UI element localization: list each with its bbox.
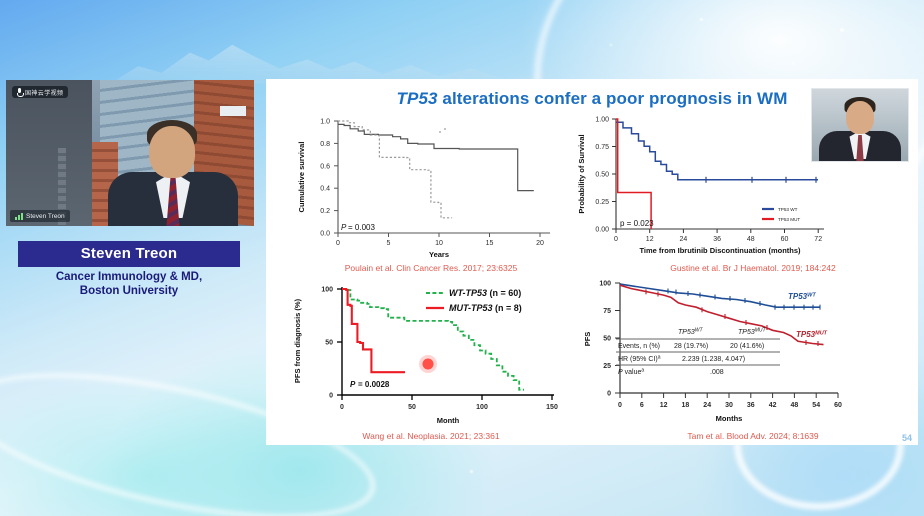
- participant-name-chip: Steven Treon: [10, 210, 70, 222]
- table-cell-pvalue: .008: [710, 369, 724, 376]
- mic-chip-label: 国神云学视频: [25, 88, 63, 97]
- svg-text:6: 6: [640, 402, 644, 409]
- svg-text:75: 75: [603, 308, 611, 315]
- svg-text:Months: Months: [716, 414, 743, 423]
- series-mut-tp53: [342, 289, 405, 372]
- censor-mark: [439, 131, 441, 133]
- p-value-annotation: P: [350, 380, 356, 389]
- svg-text:50: 50: [325, 340, 333, 347]
- speaker-nameplate: Steven Treon Cancer Immunology & MD, Bos…: [18, 241, 240, 298]
- svg-text:0: 0: [336, 240, 340, 247]
- svg-text:0.2: 0.2: [320, 208, 330, 215]
- svg-text:150: 150: [546, 404, 558, 411]
- svg-text:100: 100: [599, 281, 611, 288]
- legend-label-wt: TP53 WT: [778, 207, 798, 212]
- curve-label-wt: TP53WT: [788, 292, 816, 301]
- svg-text:0: 0: [614, 236, 618, 243]
- affiliation-line-2: Boston University: [18, 285, 240, 299]
- slide-number: 54: [902, 433, 912, 443]
- chart-poulain-cumulative-survival: 0.0 0.2 0.4 0.6 0.8 1.0 0 5 10 15 20 Yea…: [282, 111, 562, 263]
- svg-text:0.00: 0.00: [595, 227, 609, 234]
- svg-text:0: 0: [340, 404, 344, 411]
- citation-bottom-left: Wang et al. Neoplasia. 2021; 23:361: [266, 431, 596, 441]
- svg-text:12: 12: [646, 236, 654, 243]
- svg-text:15: 15: [486, 240, 494, 247]
- series-solid: [338, 124, 534, 190]
- svg-text:0: 0: [329, 393, 333, 400]
- table-row-label: Events, n (%): [618, 343, 660, 350]
- svg-text:48: 48: [747, 236, 755, 243]
- svg-text:0.0: 0.0: [320, 231, 330, 238]
- legend-label-mut: MUT-TP53 (n = 8): [449, 303, 522, 313]
- p-value-text: = 0.0028: [358, 380, 390, 389]
- series-tp53-wt: [616, 122, 818, 180]
- svg-text:PFS from diagnosis (%): PFS from diagnosis (%): [293, 298, 302, 383]
- svg-text:Month: Month: [437, 416, 460, 425]
- svg-text:0.50: 0.50: [595, 172, 609, 179]
- legend-label-wt: WT-TP53 (n = 60): [449, 288, 521, 298]
- chart-poulain-axes: 0.0 0.2 0.4 0.6 0.8 1.0 0 5 10 15 20 Yea…: [297, 119, 550, 260]
- background-speck: [470, 470, 473, 473]
- speaker-affiliation: Cancer Immunology & MD, Boston Universit…: [18, 271, 240, 298]
- svg-text:Cumulative survival: Cumulative survival: [297, 142, 306, 213]
- svg-text:0.8: 0.8: [320, 141, 330, 148]
- svg-text:54: 54: [812, 402, 820, 409]
- svg-text:50: 50: [408, 404, 416, 411]
- table-header-mut: TP53MUT: [738, 328, 767, 337]
- svg-text:0: 0: [607, 391, 611, 398]
- background-mountain-graphic: [110, 28, 580, 84]
- table-cell-hr: 2.239 (1.238, 4.047): [682, 356, 745, 363]
- svg-text:100: 100: [321, 287, 333, 294]
- p-value-annotation: p = 0.023: [620, 219, 654, 228]
- svg-text:72: 72: [814, 236, 822, 243]
- svg-text:0.4: 0.4: [320, 186, 330, 193]
- microphone-icon: [17, 88, 22, 96]
- svg-text:25: 25: [603, 363, 611, 370]
- video-feed: [92, 80, 254, 226]
- svg-text:36: 36: [747, 402, 755, 409]
- citation-top-right: Gustine et al. Br J Haematol. 2019; 184:…: [588, 263, 918, 273]
- building-logo: [220, 106, 246, 116]
- slide-title-rest: alterations confer a poor prognosis in W…: [438, 89, 788, 108]
- chart-wang-legend: WT-TP53 (n = 60) MUT-TP53 (n = 8): [426, 288, 522, 313]
- svg-text:Time from Ibrutinib Discontinu: Time from Ibrutinib Discontinuation (mon…: [639, 246, 801, 255]
- chart-gustine-probability-survival: 0.00 0.25 0.50 0.75 1.00 0 12 24 36 48 6…: [566, 111, 836, 266]
- participant-video-tile[interactable]: 国神云学视频 Steven Treon: [6, 80, 254, 226]
- mic-status-chip[interactable]: 国神云学视频: [12, 86, 68, 98]
- svg-text:36: 36: [713, 236, 721, 243]
- table-cell-events-wt: 28 (19.7%): [674, 343, 708, 350]
- chart-tam-svg: 0 25 50 75 100 0 6 12 18 24 30 36 42 48 …: [570, 277, 852, 429]
- svg-text:0.6: 0.6: [320, 163, 330, 170]
- svg-text:Years: Years: [429, 250, 449, 259]
- svg-text:12: 12: [660, 402, 668, 409]
- participant-name-label: Steven Treon: [26, 213, 65, 220]
- chart-tam-results-table: TP53WT TP53MUT Events, n (%) 28 (19.7%) …: [616, 328, 780, 377]
- svg-text:100: 100: [476, 404, 488, 411]
- censor-mark: [444, 128, 446, 130]
- background-speck: [610, 44, 612, 46]
- p-value-text: = 0.003: [348, 223, 375, 232]
- webinar-screen: 国神云学视频 Steven Treon Steven Treon Cancer …: [0, 0, 924, 516]
- background-speck: [792, 62, 795, 65]
- svg-text:48: 48: [791, 402, 799, 409]
- slide-title-italic: TP53: [397, 89, 438, 108]
- cursor-highlight-halo: [419, 355, 437, 373]
- svg-text:0.25: 0.25: [595, 199, 609, 206]
- citation-bottom-right: Tam et al. Blood Adv. 2024; 8:1639: [588, 431, 918, 441]
- table-cell-events-mut: 20 (41.6%): [730, 343, 764, 350]
- series-tp53-mut: [616, 119, 651, 229]
- chart-tam-pfs: 0 25 50 75 100 0 6 12 18 24 30 36 42 48 …: [570, 277, 852, 429]
- chart-poulain-svg: 0.0 0.2 0.4 0.6 0.8 1.0 0 5 10 15 20 Yea…: [282, 111, 562, 263]
- svg-text:0: 0: [618, 402, 622, 409]
- table-row-label: HR (95% CI)a: [618, 355, 661, 364]
- svg-text:20: 20: [536, 240, 544, 247]
- speaker-face: [149, 126, 195, 178]
- svg-text:1.0: 1.0: [320, 119, 330, 126]
- chart-gustine-axes: 0.00 0.25 0.50 0.75 1.00 0 12 24 36 48 6…: [577, 117, 824, 256]
- p-value-annotation: P: [341, 223, 347, 232]
- svg-text:5: 5: [387, 240, 391, 247]
- table-header-wt: TP53WT: [678, 328, 703, 337]
- svg-text:42: 42: [769, 402, 777, 409]
- series-dotted: [338, 121, 452, 218]
- svg-text:24: 24: [703, 402, 711, 409]
- svg-text:50: 50: [603, 336, 611, 343]
- svg-text:24: 24: [680, 236, 688, 243]
- video-background-left: [6, 80, 92, 226]
- headshot-face: [846, 101, 874, 134]
- signal-bars-icon: [15, 213, 23, 220]
- table-row-label: P valuea: [618, 368, 644, 377]
- svg-text:Probability of Survival: Probability of Survival: [577, 134, 586, 213]
- background-speck: [700, 18, 703, 21]
- svg-text:60: 60: [781, 236, 789, 243]
- affiliation-line-1: Cancer Immunology & MD,: [18, 271, 240, 285]
- chart-gustine-svg: 0.00 0.25 0.50 0.75 1.00 0 12 24 36 48 6…: [566, 111, 836, 266]
- background-speck: [840, 28, 844, 32]
- svg-text:60: 60: [834, 402, 842, 409]
- speaker-name: Steven Treon: [18, 241, 240, 267]
- legend-label-mut: TP53 MUT: [778, 217, 800, 222]
- svg-text:0.75: 0.75: [595, 144, 609, 151]
- svg-text:18: 18: [682, 402, 690, 409]
- svg-text:PFS: PFS: [583, 332, 592, 347]
- svg-text:30: 30: [725, 402, 733, 409]
- chart-gustine-legend: TP53 WT TP53 MUT: [762, 207, 800, 222]
- svg-text:1.00: 1.00: [595, 117, 609, 124]
- chart-wang-svg: 0 50 100 0 50 100 150 Month PFS from dia…: [278, 279, 568, 429]
- curve-label-mut: TP53MUT: [796, 330, 828, 339]
- svg-text:10: 10: [435, 240, 443, 247]
- shared-slide[interactable]: TP53 alterations confer a poor prognosis…: [266, 79, 918, 445]
- citation-top-left: Poulain et al. Clin Cancer Res. 2017; 23…: [266, 263, 596, 273]
- chart-wang-pfs-from-diagnosis: 0 50 100 0 50 100 150 Month PFS from dia…: [278, 279, 568, 429]
